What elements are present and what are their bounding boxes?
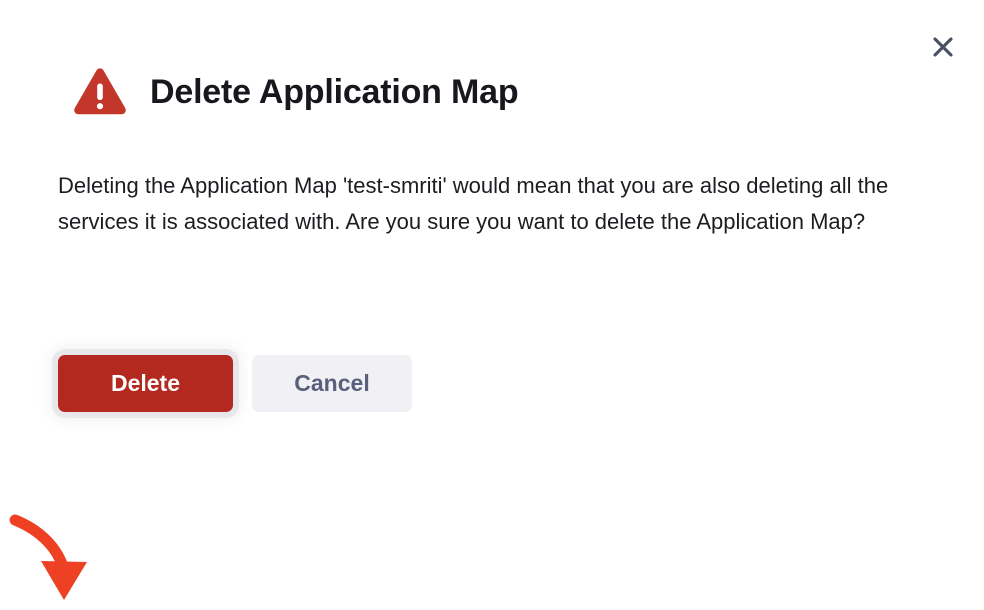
close-icon (932, 36, 954, 58)
delete-application-map-dialog: Delete Application Map Deleting the Appl… (0, 0, 984, 475)
warning-triangle-icon (72, 66, 128, 118)
close-button[interactable] (924, 28, 962, 66)
page-title: Delete Application Map (150, 75, 518, 109)
cancel-button[interactable]: Cancel (252, 355, 412, 412)
dialog-message: Deleting the Application Map 'test-smrit… (58, 168, 938, 240)
dialog-header: Delete Application Map (72, 66, 518, 118)
dialog-actions: Delete Cancel (58, 355, 412, 412)
delete-button[interactable]: Delete (58, 355, 233, 412)
curved-arrow-icon (0, 252, 120, 358)
